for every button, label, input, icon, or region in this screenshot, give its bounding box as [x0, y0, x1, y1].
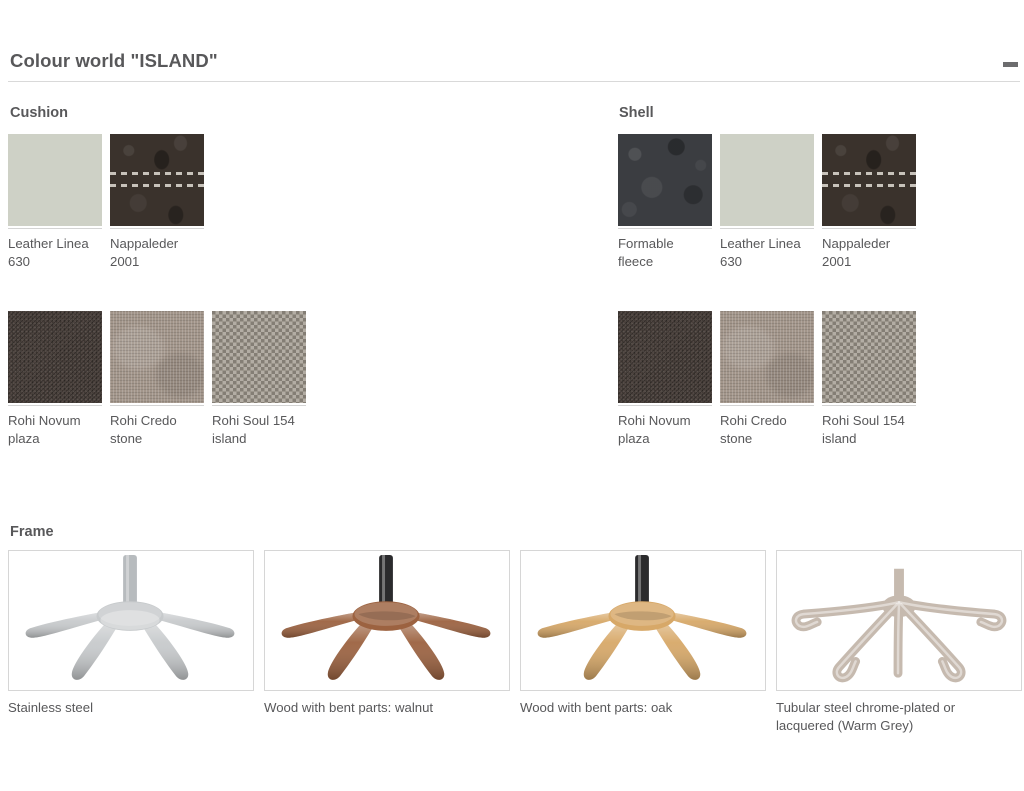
swatch-texture-soul	[212, 311, 306, 403]
cushion-swatch-row-1: Leather Linea 630Nappaleder 2001	[8, 134, 204, 270]
swatch-label: Nappaleder 2001	[822, 229, 916, 270]
walnut-wood-base	[265, 551, 509, 690]
swatch-item[interactable]: Rohi Soul 154 island	[822, 311, 916, 447]
frame-label: Wood with bent parts: oak	[520, 691, 766, 717]
swatch-texture-novum	[618, 311, 712, 403]
swatch-item[interactable]: Rohi Novum plaza	[8, 311, 102, 447]
swatch-row: Leather Linea 630Nappaleder 2001	[8, 134, 204, 270]
colour-world-panel: Colour world "ISLAND" Cushion Leather Li…	[0, 0, 1024, 791]
swatch-label: Rohi Credo stone	[720, 406, 814, 447]
frame-image-card	[776, 550, 1022, 691]
stainless-steel-base	[9, 551, 253, 690]
swatch-row: Rohi Novum plazaRohi Credo stoneRohi Sou…	[618, 311, 916, 447]
swatch-item[interactable]: Formable fleece	[618, 134, 712, 270]
swatch-label: Leather Linea 630	[8, 229, 102, 270]
shell-swatch-row-2: Rohi Novum plazaRohi Credo stoneRohi Sou…	[618, 311, 916, 447]
swatch-item[interactable]: Rohi Novum plaza	[618, 311, 712, 447]
swatch-label: Rohi Novum plaza	[8, 406, 102, 447]
frame-card-row: Stainless steelWood with bent parts: wal…	[8, 550, 1016, 734]
swatch-label: Rohi Soul 154 island	[822, 406, 916, 447]
frame-label: Stainless steel	[8, 691, 254, 717]
frame-item[interactable]: Wood with bent parts: walnut	[264, 550, 510, 734]
swatch-texture-soul	[822, 311, 916, 403]
swatch-label: Rohi Credo stone	[110, 406, 204, 447]
swatch-texture-nappa	[822, 134, 916, 226]
swatch-label: Leather Linea 630	[720, 229, 814, 270]
swatch-texture-plain	[720, 134, 814, 226]
swatch-texture-credo	[720, 311, 814, 403]
minus-icon-bar	[1003, 62, 1018, 67]
frame-item[interactable]: Wood with bent parts: oak	[520, 550, 766, 734]
swatch-item[interactable]: Nappaleder 2001	[822, 134, 916, 270]
swatch-item[interactable]: Leather Linea 630	[8, 134, 102, 270]
swatch-row: Formable fleeceLeather Linea 630Nappaled…	[618, 134, 916, 270]
swatch-texture-nappa	[110, 134, 204, 226]
swatch-label: Rohi Soul 154 island	[212, 406, 306, 447]
frame-image-card	[520, 550, 766, 691]
swatch-texture-fleece	[618, 134, 712, 226]
swatch-item[interactable]: Rohi Credo stone	[720, 311, 814, 447]
frame-image-card	[8, 550, 254, 691]
header-divider	[8, 81, 1020, 82]
swatch-item[interactable]: Rohi Soul 154 island	[212, 311, 306, 447]
page-title: Colour world "ISLAND"	[10, 50, 218, 72]
frame-item[interactable]: Stainless steel	[8, 550, 254, 734]
swatch-texture-credo	[110, 311, 204, 403]
swatch-item[interactable]: Nappaleder 2001	[110, 134, 204, 270]
swatch-texture-novum	[8, 311, 102, 403]
swatch-label: Rohi Novum plaza	[618, 406, 712, 447]
swatch-label: Nappaleder 2001	[110, 229, 204, 270]
section-heading-cushion: Cushion	[10, 105, 68, 121]
tubular-steel-base	[777, 551, 1021, 690]
minus-icon[interactable]	[1003, 55, 1020, 69]
cushion-swatch-row-2: Rohi Novum plazaRohi Credo stoneRohi Sou…	[8, 311, 306, 447]
swatch-row: Rohi Novum plazaRohi Credo stoneRohi Sou…	[8, 311, 306, 447]
frame-label: Tubular steel chrome-plated or lacquered…	[776, 691, 1022, 734]
swatch-item[interactable]: Leather Linea 630	[720, 134, 814, 270]
swatch-item[interactable]: Rohi Credo stone	[110, 311, 204, 447]
oak-wood-base	[521, 551, 765, 690]
swatch-label: Formable fleece	[618, 229, 712, 270]
frame-item[interactable]: Tubular steel chrome-plated or lacquered…	[776, 550, 1022, 734]
section-heading-shell: Shell	[619, 105, 654, 121]
section-heading-frame: Frame	[10, 524, 54, 540]
panel-header: Colour world "ISLAND"	[0, 0, 1024, 85]
swatch-texture-plain	[8, 134, 102, 226]
frame-label: Wood with bent parts: walnut	[264, 691, 510, 717]
frame-image-card	[264, 550, 510, 691]
shell-swatch-row-1: Formable fleeceLeather Linea 630Nappaled…	[618, 134, 916, 270]
